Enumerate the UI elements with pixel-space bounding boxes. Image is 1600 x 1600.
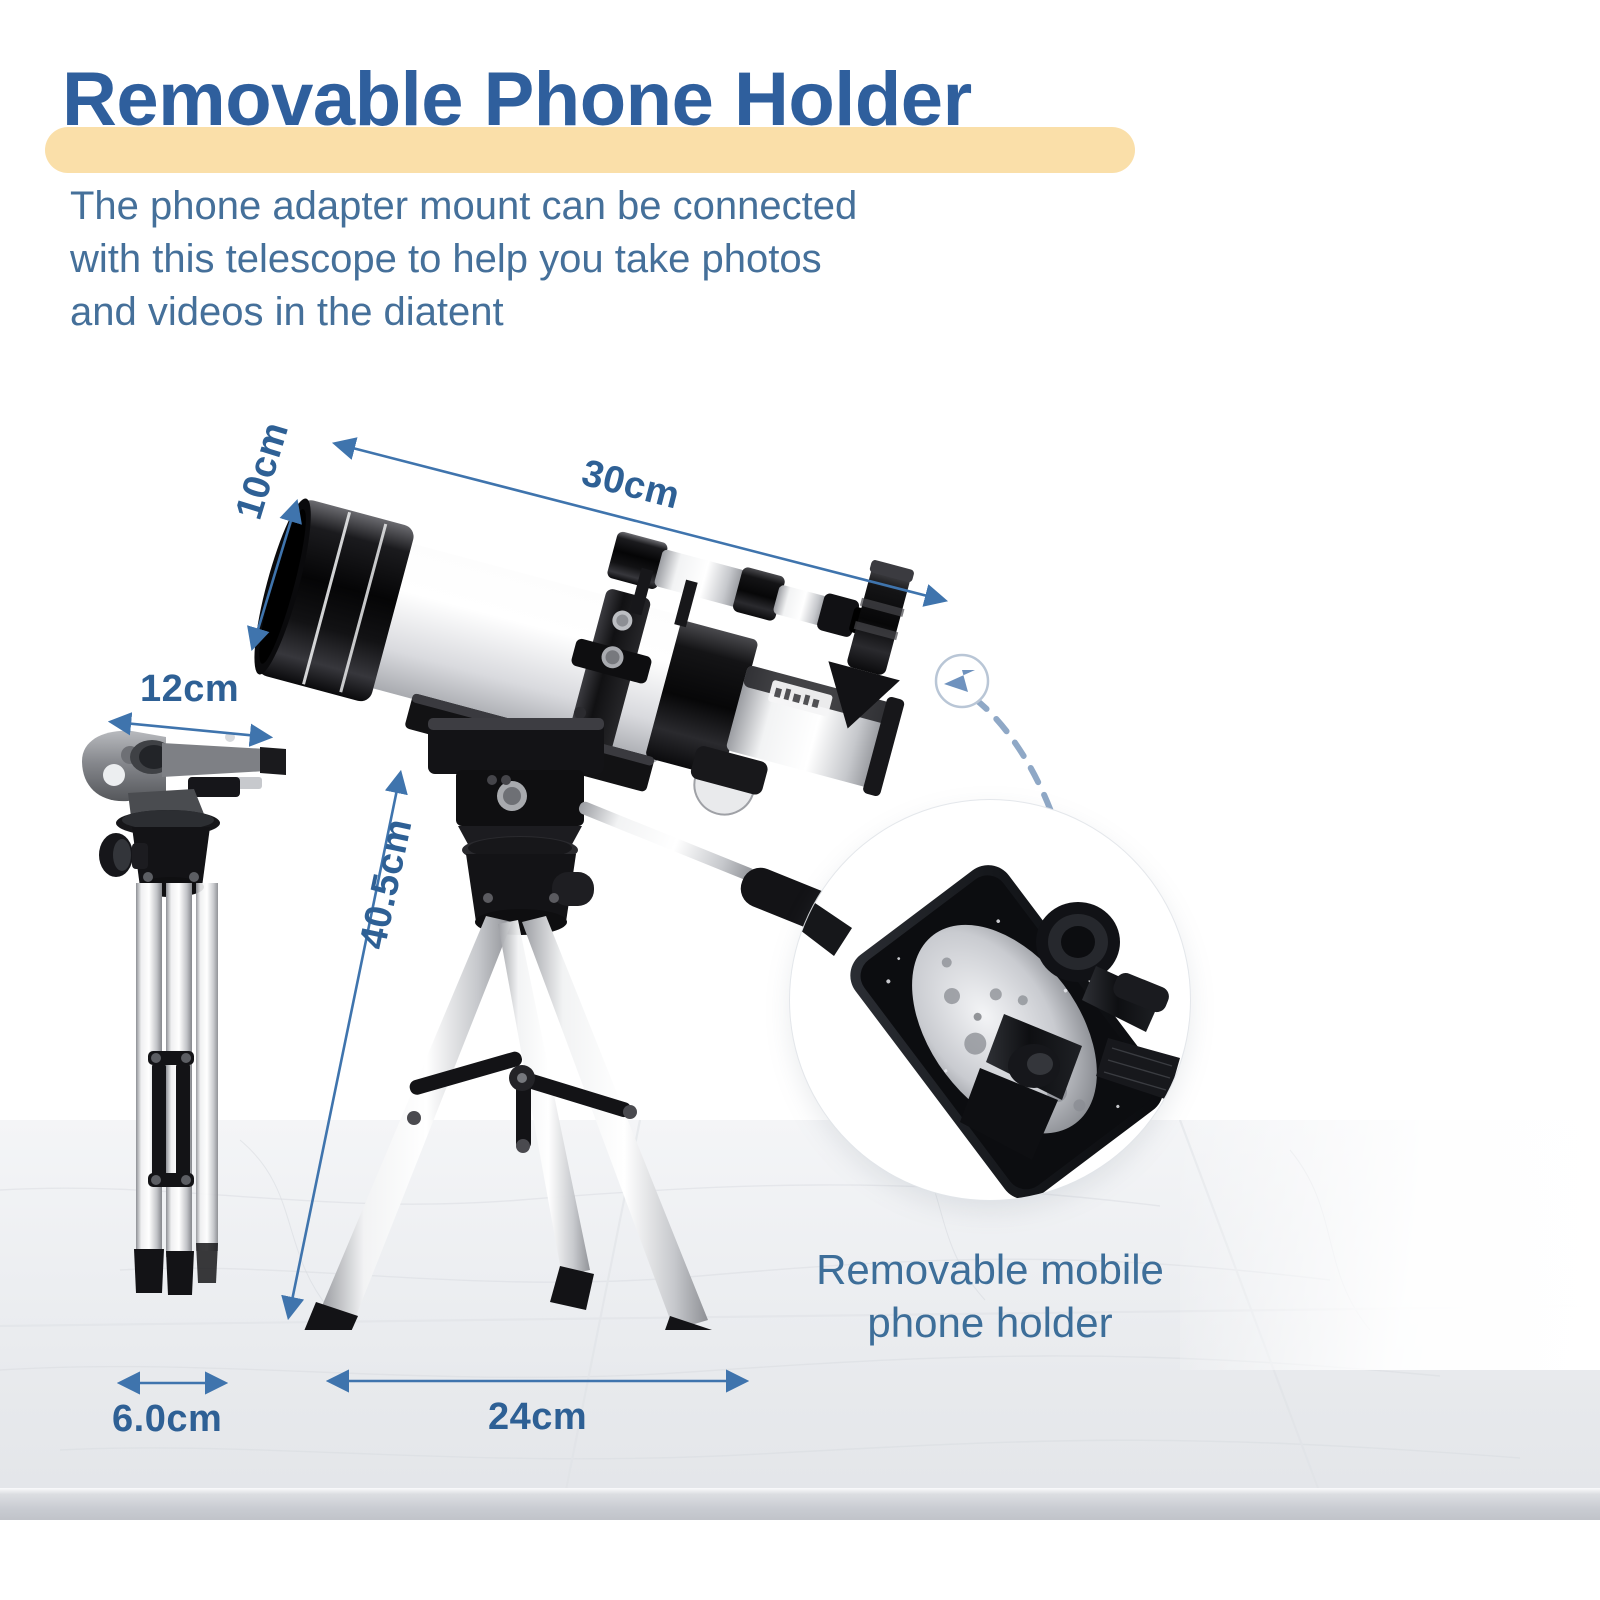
inset-caption: Removable mobile phone holder xyxy=(790,1244,1190,1350)
subtitle-line-1: The phone adapter mount can be connected xyxy=(70,180,1070,233)
phone-holder-inset xyxy=(790,800,1190,1200)
tripod-head xyxy=(82,731,286,836)
tripod-legs xyxy=(302,916,712,1330)
phone-holder-closeup xyxy=(790,800,1190,1200)
inset-caption-line-1: Removable mobile xyxy=(790,1244,1190,1297)
floor-front-edge xyxy=(0,1488,1600,1522)
subtitle-line-2: with this telescope to help you take pho… xyxy=(70,233,1070,286)
subtitle-line-3: and videos in the diatent xyxy=(70,286,1070,339)
page-subtitle: The phone adapter mount can be connected… xyxy=(70,180,1070,338)
page-title: Removable Phone Holder xyxy=(62,62,972,138)
dim-label-24cm: 24cm xyxy=(488,1396,587,1439)
dim-label-6cm: 6.0cm xyxy=(112,1398,222,1441)
header: Removable Phone Holder The phone adapter… xyxy=(0,0,1600,360)
floor-underside xyxy=(0,1520,1600,1600)
infographic-canvas: Removable Phone Holder The phone adapter… xyxy=(0,0,1600,1600)
tripod-mount xyxy=(302,718,859,1330)
floor-right-fade xyxy=(1180,1120,1600,1370)
dim-label-12cm: 12cm xyxy=(140,668,239,711)
inset-caption-line-2: phone holder xyxy=(790,1297,1190,1350)
folded-tripod-illustration xyxy=(70,715,350,1335)
